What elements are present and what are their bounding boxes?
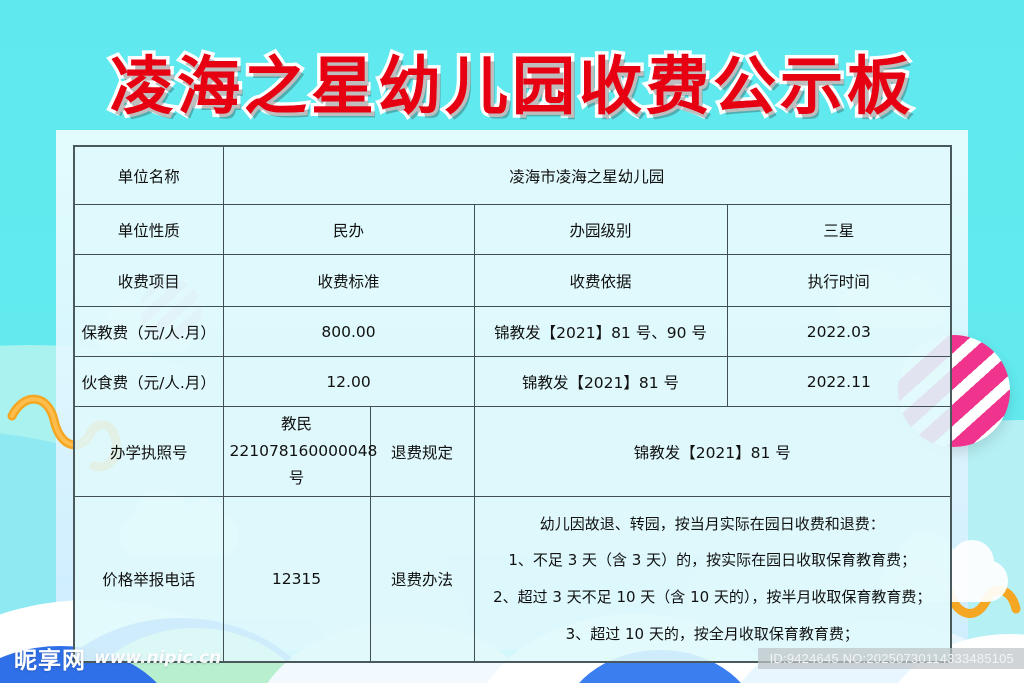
- col-header-item: 收费项目: [74, 255, 223, 307]
- cell-fee-basis: 锦教发【2021】81 号: [474, 357, 727, 407]
- table-row: 单位性质 民办 办园级别 三星: [74, 205, 951, 255]
- refund-rule-3: 3、超过 10 天的，按全月收取保育教育费；: [481, 619, 945, 650]
- site-watermark: 昵享网 www.nipic.cn: [14, 641, 221, 675]
- table-row: 保教费（元/人.月） 800.00 锦教发【2021】81 号、90 号 202…: [74, 307, 951, 357]
- cell-refund-rule-value: 锦教发【2021】81 号: [474, 407, 951, 497]
- fee-disclosure-board: 单位名称 凌海市凌海之星幼儿园 单位性质 民办 办园级别 三星 收费项目 收费标…: [73, 145, 950, 625]
- image-id-watermark: ID:9424645 NO:20250730114333485105: [758, 648, 1024, 669]
- poster-canvas: 凌海之星幼儿园收费公示板 凌海之星幼儿园收费公示板 单位名称 凌海市凌海之星幼儿…: [0, 0, 1024, 683]
- cell-complaint-phone-label: 价格举报电话: [74, 497, 223, 663]
- site-watermark-name: 昵享网: [14, 641, 86, 675]
- license-value-line1: 教民: [230, 411, 364, 438]
- table-header-row: 收费项目 收费标准 收费依据 执行时间: [74, 255, 951, 307]
- cell-unit-name-label: 单位名称: [74, 146, 223, 205]
- refund-rule-1: 1、不足 3 天（含 3 天）的，按实际在园日收取保育教育费；: [481, 545, 945, 576]
- col-header-basis: 收费依据: [474, 255, 727, 307]
- cell-unit-nature-value: 民办: [223, 205, 474, 255]
- cell-grade-label: 办园级别: [474, 205, 727, 255]
- poster-title: 凌海之星幼儿园收费公示板: [110, 36, 914, 127]
- cell-fee-item: 保教费（元/人.月）: [74, 307, 223, 357]
- license-value-line2: 221078160000048 号: [230, 438, 364, 492]
- table-row: 办学执照号 教民 221078160000048 号 退费规定 锦教发【2021…: [74, 407, 951, 497]
- cell-fee-basis: 锦教发【2021】81 号、90 号: [474, 307, 727, 357]
- cell-grade-value: 三星: [727, 205, 951, 255]
- fee-table: 单位名称 凌海市凌海之星幼儿园 单位性质 民办 办园级别 三星 收费项目 收费标…: [73, 145, 952, 663]
- cell-fee-standard: 800.00: [223, 307, 474, 357]
- cell-unit-name-value: 凌海市凌海之星幼儿园: [223, 146, 951, 205]
- cell-unit-nature-label: 单位性质: [74, 205, 223, 255]
- poster-title-outline: 凌海之星幼儿园收费公示板: [0, 36, 1024, 127]
- cell-license-label: 办学执照号: [74, 407, 223, 497]
- refund-rule-2: 2、超过 3 天不足 10 天（含 10 天的），按半月收取保育教育费；: [481, 582, 945, 613]
- refund-rules-intro: 幼儿因故退、转园，按当月实际在园日收费和退费：: [481, 509, 945, 540]
- site-watermark-url: www.nipic.cn: [94, 648, 221, 668]
- cell-refund-method-value: 幼儿因故退、转园，按当月实际在园日收费和退费： 1、不足 3 天（含 3 天）的…: [474, 497, 951, 663]
- cell-license-value: 教民 221078160000048 号: [223, 407, 370, 497]
- table-row: 价格举报电话 12315 退费办法 幼儿因故退、转园，按当月实际在园日收费和退费…: [74, 497, 951, 663]
- cell-fee-time: 2022.11: [727, 357, 951, 407]
- cell-fee-standard: 12.00: [223, 357, 474, 407]
- table-row: 单位名称 凌海市凌海之星幼儿园: [74, 146, 951, 205]
- col-header-time: 执行时间: [727, 255, 951, 307]
- table-row: 伙食费（元/人.月） 12.00 锦教发【2021】81 号 2022.11: [74, 357, 951, 407]
- cell-refund-method-label: 退费办法: [370, 497, 474, 663]
- cell-complaint-phone-value: 12315: [223, 497, 370, 663]
- cell-fee-item: 伙食费（元/人.月）: [74, 357, 223, 407]
- col-header-standard: 收费标准: [223, 255, 474, 307]
- cell-refund-rule-label: 退费规定: [370, 407, 474, 497]
- cell-fee-time: 2022.03: [727, 307, 951, 357]
